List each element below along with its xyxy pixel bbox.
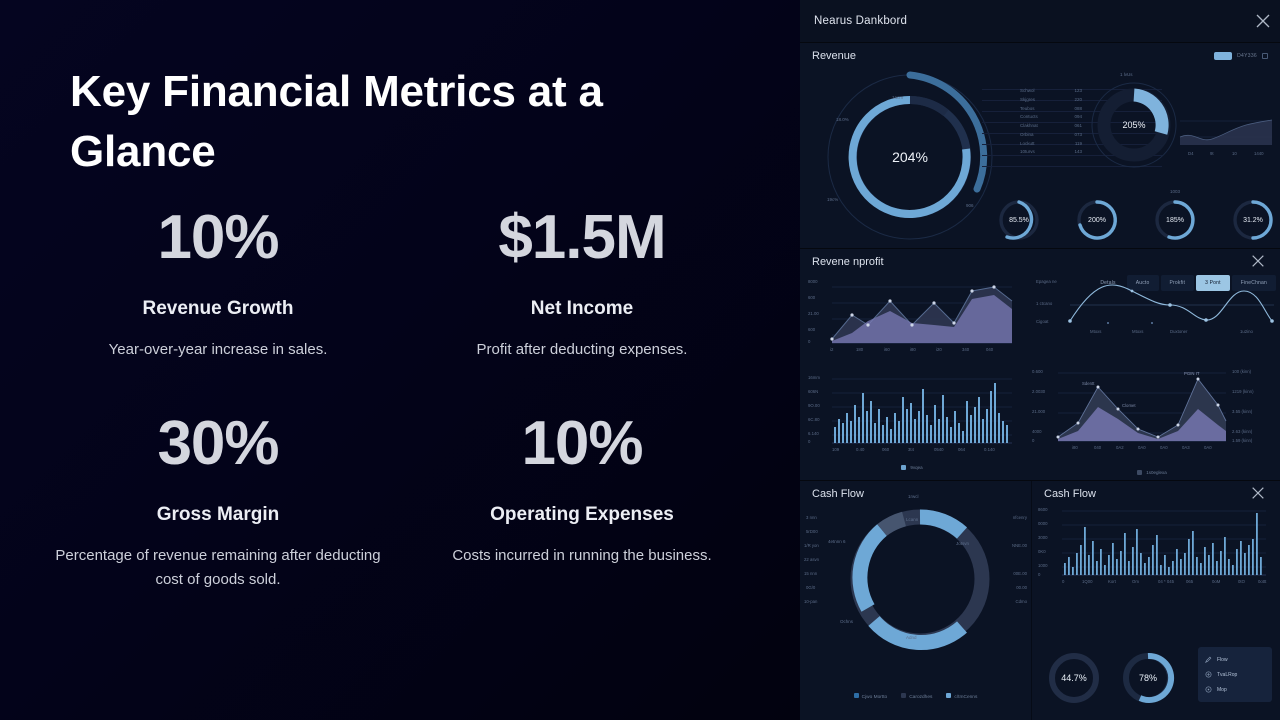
dashboard-titlebar: Nearus Dankbord — [800, 0, 1280, 42]
axis-tick: i60 — [884, 347, 890, 352]
cash-flow-right-header: Cash Flow — [1032, 481, 1280, 503]
ring-label: 4etnnn 6 — [828, 539, 846, 544]
metric-label: Net Income — [418, 298, 746, 320]
ring-label: Ochns — [840, 619, 853, 624]
list-item-name: Skjgres — [1020, 96, 1035, 105]
axis-tick: 1Q00 — [1082, 579, 1093, 584]
legend-label: 9vqea — [910, 465, 922, 470]
axis-tick: 0.140 — [984, 447, 995, 452]
list-item-value: 123 — [1074, 87, 1082, 96]
axis-tick: nfcenry — [1013, 515, 1027, 520]
gauge-value: 78% — [1120, 650, 1176, 706]
bar-chart-legend: 9vqea — [806, 465, 1018, 470]
metric-value: 10% — [54, 205, 382, 270]
revenue-legend-pill[interactable]: D4Y336 — [1214, 52, 1268, 60]
axis-tick: Mtoxs — [1090, 329, 1101, 334]
axis-tick: 0A0 — [1204, 445, 1212, 450]
axis-tick: 0G/0 — [806, 585, 815, 590]
metric-card-revenue-growth: 10% Revenue Growth Year-over-year increa… — [36, 205, 400, 361]
revenue-secondary-donut-value: 205% — [1090, 81, 1178, 169]
revenue-sparkline-chart: D4 9t 10 1440 — [1180, 111, 1272, 157]
slide-content-left: Key Financial Metrics at a Glance 10% Re… — [0, 0, 800, 720]
axis-tick: 3.55 (kinn) — [1232, 409, 1252, 414]
list-item-name: Contucts — [1020, 113, 1038, 122]
legend-checkbox-icon[interactable] — [1262, 53, 1268, 59]
metric-value: 30% — [54, 411, 382, 476]
legend-label: 1s0eglexa — [1146, 470, 1167, 475]
ring-label: Lcann — [906, 517, 918, 522]
gauge-value: 200% — [1074, 197, 1120, 243]
gauge-caption: 1003 — [1170, 189, 1180, 194]
axis-tick: 10 — [1232, 151, 1237, 156]
axis-tick: 1.59 (kinn) — [1232, 438, 1252, 443]
axis-tick: Duxtoner — [1170, 329, 1187, 334]
dashboard-title: Nearus Dankbord — [814, 15, 907, 27]
gauge-chart[interactable]: 31.2% — [1230, 197, 1276, 243]
axis-tick: 5rD00 — [806, 529, 818, 534]
axis-tick: 2.0030 — [1032, 389, 1045, 394]
panel-revenue-profit-body: Detals Aucto Prokfit 3 Pont FineChnan — [800, 271, 1280, 477]
axis-tick: 600 — [808, 295, 815, 300]
metric-description: Percentage of revenue remaining after de… — [54, 544, 382, 591]
cash-flow-bar-chart: 8600 0000 3000 0K0 1000 0 0 1Q00 Kort Om… — [1036, 505, 1272, 587]
cash-flow-action-menu: Flow TvaLRop Mop — [1198, 647, 1272, 702]
panel-revenue-header: Revenue D4Y336 — [800, 43, 1280, 65]
gauge-chart[interactable]: 44.7% — [1046, 650, 1102, 706]
list-item: Skjgres220 — [1020, 96, 1082, 105]
metric-label: Gross Margin — [54, 504, 382, 526]
donut-tick-label: 18.0% — [836, 117, 849, 122]
axis-tick: 00E.00 — [1013, 571, 1027, 576]
axis-tick: 2.63 (kinn) — [1232, 429, 1252, 434]
legend-label: Cjwo Mortto — [862, 695, 888, 700]
axis-tick: 16mm — [808, 375, 820, 380]
axis-tick: 0A0 — [1160, 445, 1168, 450]
list-item-value: 088 — [1074, 105, 1082, 114]
axis-tick: Cdmo — [1016, 599, 1027, 604]
menu-item-label: TvaLRop — [1217, 672, 1237, 678]
revenue-main-donut-value: 204% — [820, 67, 1000, 247]
close-icon[interactable] — [1254, 12, 1272, 30]
list-item: Orbina073 — [1020, 131, 1082, 140]
metric-label: Operating Expenses — [418, 504, 746, 526]
revenue-area-chart: 8000 600 21.00 600 0 i2 180 i60 i80 i20 … — [806, 281, 1018, 367]
axis-tick: 6.140 — [808, 431, 819, 436]
clock-icon — [1205, 686, 1212, 693]
gauge-chart[interactable]: 85.5% — [996, 197, 1042, 243]
legend-item: Cjwo Mortto — [854, 693, 888, 700]
axis-tick: 0oM — [1212, 579, 1220, 584]
donut-tick-label: 1acm — [892, 95, 903, 100]
axis-tick: 1000 — [1038, 563, 1048, 568]
axis-tick: 4000 — [1032, 429, 1042, 434]
axis-tick: D4 — [1188, 151, 1194, 156]
donut-cap-label: 1 lvUs — [1120, 72, 1133, 77]
panel-title: Revene nprofit — [804, 256, 884, 268]
axis-tick: NNE.00 — [1012, 543, 1027, 548]
axis-tick: i2 — [830, 347, 833, 352]
axis-tick: 04 * 045 — [1158, 579, 1174, 584]
axis-tick: Epagea ne — [1036, 279, 1057, 284]
list-item-value: 094 — [1074, 113, 1082, 122]
axis-tick: 6C.80 — [808, 417, 819, 422]
axis-tick: 065 — [1186, 579, 1193, 584]
cash-flow-ring-chart[interactable]: 1rwcl Lcann 4etnnn 6 Jotsvn Ochns Adnd — [844, 503, 996, 655]
revenue-gauge-row: 85.5% 200% 185% — [996, 197, 1276, 243]
axis-tick: 0K0 — [1038, 549, 1046, 554]
axis-tick: 0540 — [934, 447, 944, 452]
gauge-chart[interactable]: 185% 1003 — [1152, 197, 1198, 243]
list-item-name: Clakhnat — [1020, 122, 1038, 131]
profit-line-chart: Epagea ne 1 ctcano Cigoat Mtoxs Mtoxs Du… — [1036, 277, 1274, 357]
close-icon[interactable] — [1250, 253, 1268, 271]
panel-cash-flow: Cash Flow 1rwcl Lcann 4etnnn 6 Jotsvn Oc… — [800, 480, 1280, 720]
metric-value: 10% — [418, 411, 746, 476]
axis-tick: 22 asvn — [804, 557, 819, 562]
list-item-value: 143 — [1074, 148, 1082, 157]
axis-tick: 8600 — [1038, 507, 1048, 512]
gauge-value: 185% — [1152, 197, 1198, 243]
list-item: 10turvs143 — [1020, 148, 1082, 157]
legend-swatch — [901, 693, 906, 698]
page-title: Key Financial Metrics at a Glance — [70, 62, 690, 183]
revenue-mini-list: Schwol123 Skjgres220 Teubos088 Contucts0… — [1020, 87, 1082, 157]
donut-tick-label: 19c% — [827, 197, 838, 202]
revenue-secondary-donut-chart[interactable]: 205% 1 lvUs — [1090, 81, 1178, 169]
menu-item-label: Flow — [1217, 657, 1228, 663]
list-item: Lockutt119 — [1020, 140, 1082, 149]
axis-tick: 3000 — [1038, 535, 1048, 540]
legend-item: c/tmCenns — [946, 693, 977, 700]
legend-swatch — [946, 693, 951, 698]
axis-tick: 0A3 — [1182, 445, 1190, 450]
axis-tick: i20 — [936, 347, 942, 352]
cash-flow-gauge-row: 44.7% 78% — [1046, 650, 1176, 706]
axis-tick: 00.00 — [1016, 585, 1027, 590]
list-item-name: Teubos — [1020, 105, 1035, 114]
axis-tick: 1440 — [1254, 151, 1264, 156]
slide-canvas: Key Financial Metrics at a Glance 10% Re… — [0, 0, 1280, 720]
ring-label: Adnd — [906, 635, 917, 640]
axis-tick: 3t4 — [908, 447, 914, 452]
list-item: Contucts094 — [1020, 113, 1082, 122]
axis-tick: 0.600 — [1032, 369, 1043, 374]
axis-tick: 8000 — [808, 279, 818, 284]
donut-tick-label: 906 — [966, 203, 974, 208]
target-icon — [1205, 671, 1212, 678]
list-item: Clakhnat061 — [1020, 122, 1082, 131]
metric-description: Costs incurred in running the business. — [418, 544, 746, 567]
axis-tick: 064 — [958, 447, 965, 452]
metric-description: Profit after deducting expenses. — [418, 338, 746, 361]
axis-tick: 21.000 — [1032, 409, 1045, 414]
menu-item-label: Mop — [1217, 687, 1227, 693]
axis-tick: 0tO — [1238, 579, 1245, 584]
metric-card-operating-expenses: 10% Operating Expenses Costs incurred in… — [400, 411, 764, 591]
list-item-value: 220 — [1074, 96, 1082, 105]
list-item: Schwol123 — [1020, 87, 1082, 96]
cash-flow-left-header: Cash Flow — [800, 481, 1031, 503]
legend-label: c/tmCenns — [954, 695, 977, 700]
cash-flow-legend: Cjwo Mortto Carozdhes c/tmCenns — [800, 693, 1031, 700]
gauge-chart[interactable]: 78% — [1120, 650, 1176, 706]
axis-tick: 040 — [986, 347, 993, 352]
gauge-value: 31.2% — [1230, 197, 1276, 243]
metric-card-gross-margin: 30% Gross Margin Percentage of revenue r… — [36, 411, 400, 591]
axis-tick: 606N — [808, 389, 818, 394]
chart-annotation: Clomet — [1122, 403, 1136, 408]
axis-tick: 109 — [832, 447, 839, 452]
axis-tick: 1/R yon — [804, 543, 819, 548]
panel-title: Cash Flow — [1036, 488, 1096, 500]
panel-revenue: Revenue D4Y336 204% — [800, 42, 1280, 248]
axis-tick: 9O.00 — [808, 403, 820, 408]
panel-cash-flow-right: Cash Flow — [1032, 481, 1280, 720]
list-item-name: Orbina — [1020, 131, 1034, 140]
axis-tick: Cigoat — [1036, 319, 1048, 324]
list-item-name: 10turvs — [1020, 148, 1035, 157]
gauge-value: 85.5% — [996, 197, 1042, 243]
metric-value: $1.5M — [418, 205, 746, 270]
panel-revenue-profit-header: Revene nprofit — [800, 249, 1280, 271]
ring-label: 1rwcl — [908, 494, 919, 499]
axis-tick: 0 — [1062, 579, 1064, 584]
axis-tick: 1219 (kinn) — [1232, 389, 1254, 394]
axis-tick: 3 nnn — [806, 515, 817, 520]
axis-tick: 180 — [856, 347, 863, 352]
axis-tick: 15 nnn — [804, 571, 817, 576]
list-item-name: Schwol — [1020, 87, 1035, 96]
axis-tick: 0.40 — [856, 447, 864, 452]
axis-tick: 0A0 — [1138, 445, 1146, 450]
revenue-bar-chart: 16mm 606N 9O.00 6C.80 6.140 0 109 0.40 0… — [806, 375, 1018, 471]
legend-swatch — [854, 693, 859, 698]
axis-tick: i80 — [1072, 445, 1078, 450]
dashboard-panel: Nearus Dankbord Revenue D4Y336 — [800, 0, 1280, 720]
list-item-value: 119 — [1075, 140, 1082, 149]
gauge-value: 44.7% — [1046, 650, 1102, 706]
panel-title: Cash Flow — [804, 488, 864, 500]
axis-tick: 0 — [1032, 438, 1034, 443]
list-item-name: Lockutt — [1020, 140, 1035, 149]
menu-item-tvalrop[interactable]: TvaLRop — [1198, 667, 1272, 682]
profit-stacked-area-chart: 0.600 2.0030 21.000 4000 0 100 (kinn) 12… — [1030, 359, 1274, 471]
axis-tick: 0ottt — [1258, 579, 1266, 584]
legend-label: D4Y336 — [1237, 53, 1257, 59]
axis-tick: 100 (kinn) — [1232, 369, 1251, 374]
list-item: Teubos088 — [1020, 105, 1082, 114]
axis-tick: 0A2 — [1116, 445, 1124, 450]
gauge-chart[interactable]: 200% — [1074, 197, 1120, 243]
ring-label: Jotsvn — [956, 541, 969, 546]
axis-tick: i80 — [910, 347, 916, 352]
metric-label: Revenue Growth — [54, 298, 382, 320]
axis-tick: 340 — [962, 347, 969, 352]
legend-item: Carozdhes — [901, 693, 932, 700]
menu-item-mop[interactable]: Mop — [1198, 682, 1272, 697]
revenue-main-donut-chart[interactable]: 204% 1acm 18.0% 19c% 906 — [820, 67, 1000, 247]
axis-tick: 0 — [808, 439, 810, 444]
axis-tick: 10-pan — [804, 599, 817, 604]
legend-swatch — [901, 465, 906, 470]
axis-tick: Om — [1132, 579, 1139, 584]
metric-description: Year-over-year increase in sales. — [54, 338, 382, 361]
legend-swatch — [1214, 52, 1232, 60]
chart-annotation: PGIN IT — [1184, 371, 1200, 376]
axis-tick: 9t — [1210, 151, 1214, 156]
list-item-value: 061 — [1074, 122, 1082, 131]
legend-label: Carozdhes — [909, 695, 932, 700]
panel-revenue-body: 204% 1acm 18.0% 19c% 906 Schwol123 Skjgr… — [800, 65, 1280, 247]
panel-cash-flow-left: Cash Flow 1rwcl Lcann 4etnnn 6 Jotsvn Oc… — [800, 481, 1032, 720]
axis-tick: 060 — [882, 447, 889, 452]
axis-tick: 600 — [808, 327, 815, 332]
panel-revenue-profit: Revene nprofit Detals Aucto Prokfit 3 Po… — [800, 248, 1280, 480]
axis-tick: 1u2ino — [1240, 329, 1253, 334]
menu-item-flow[interactable]: Flow — [1198, 652, 1272, 667]
close-icon[interactable] — [1250, 485, 1268, 503]
axis-tick: 21.00 — [808, 311, 819, 316]
stacked-area-legend: 1s0eglexa — [1030, 470, 1274, 475]
axis-tick: 0 — [808, 339, 810, 344]
axis-tick: 1 ctcano — [1036, 301, 1052, 306]
panel-title: Revenue — [804, 50, 856, 62]
metric-card-net-income: $1.5M Net Income Profit after deducting … — [400, 205, 764, 361]
list-item-value: 073 — [1074, 131, 1082, 140]
axis-tick: 0000 — [1038, 521, 1048, 526]
axis-tick: Mtoxs — [1132, 329, 1143, 334]
axis-tick: Kort — [1108, 579, 1116, 584]
axis-tick: 040 — [1094, 445, 1101, 450]
pen-icon — [1205, 656, 1212, 663]
metrics-grid: 10% Revenue Growth Year-over-year increa… — [36, 205, 764, 591]
legend-swatch — [1137, 470, 1142, 475]
axis-tick: 0 — [1038, 572, 1040, 577]
chart-annotation: Sdentt — [1082, 381, 1094, 386]
